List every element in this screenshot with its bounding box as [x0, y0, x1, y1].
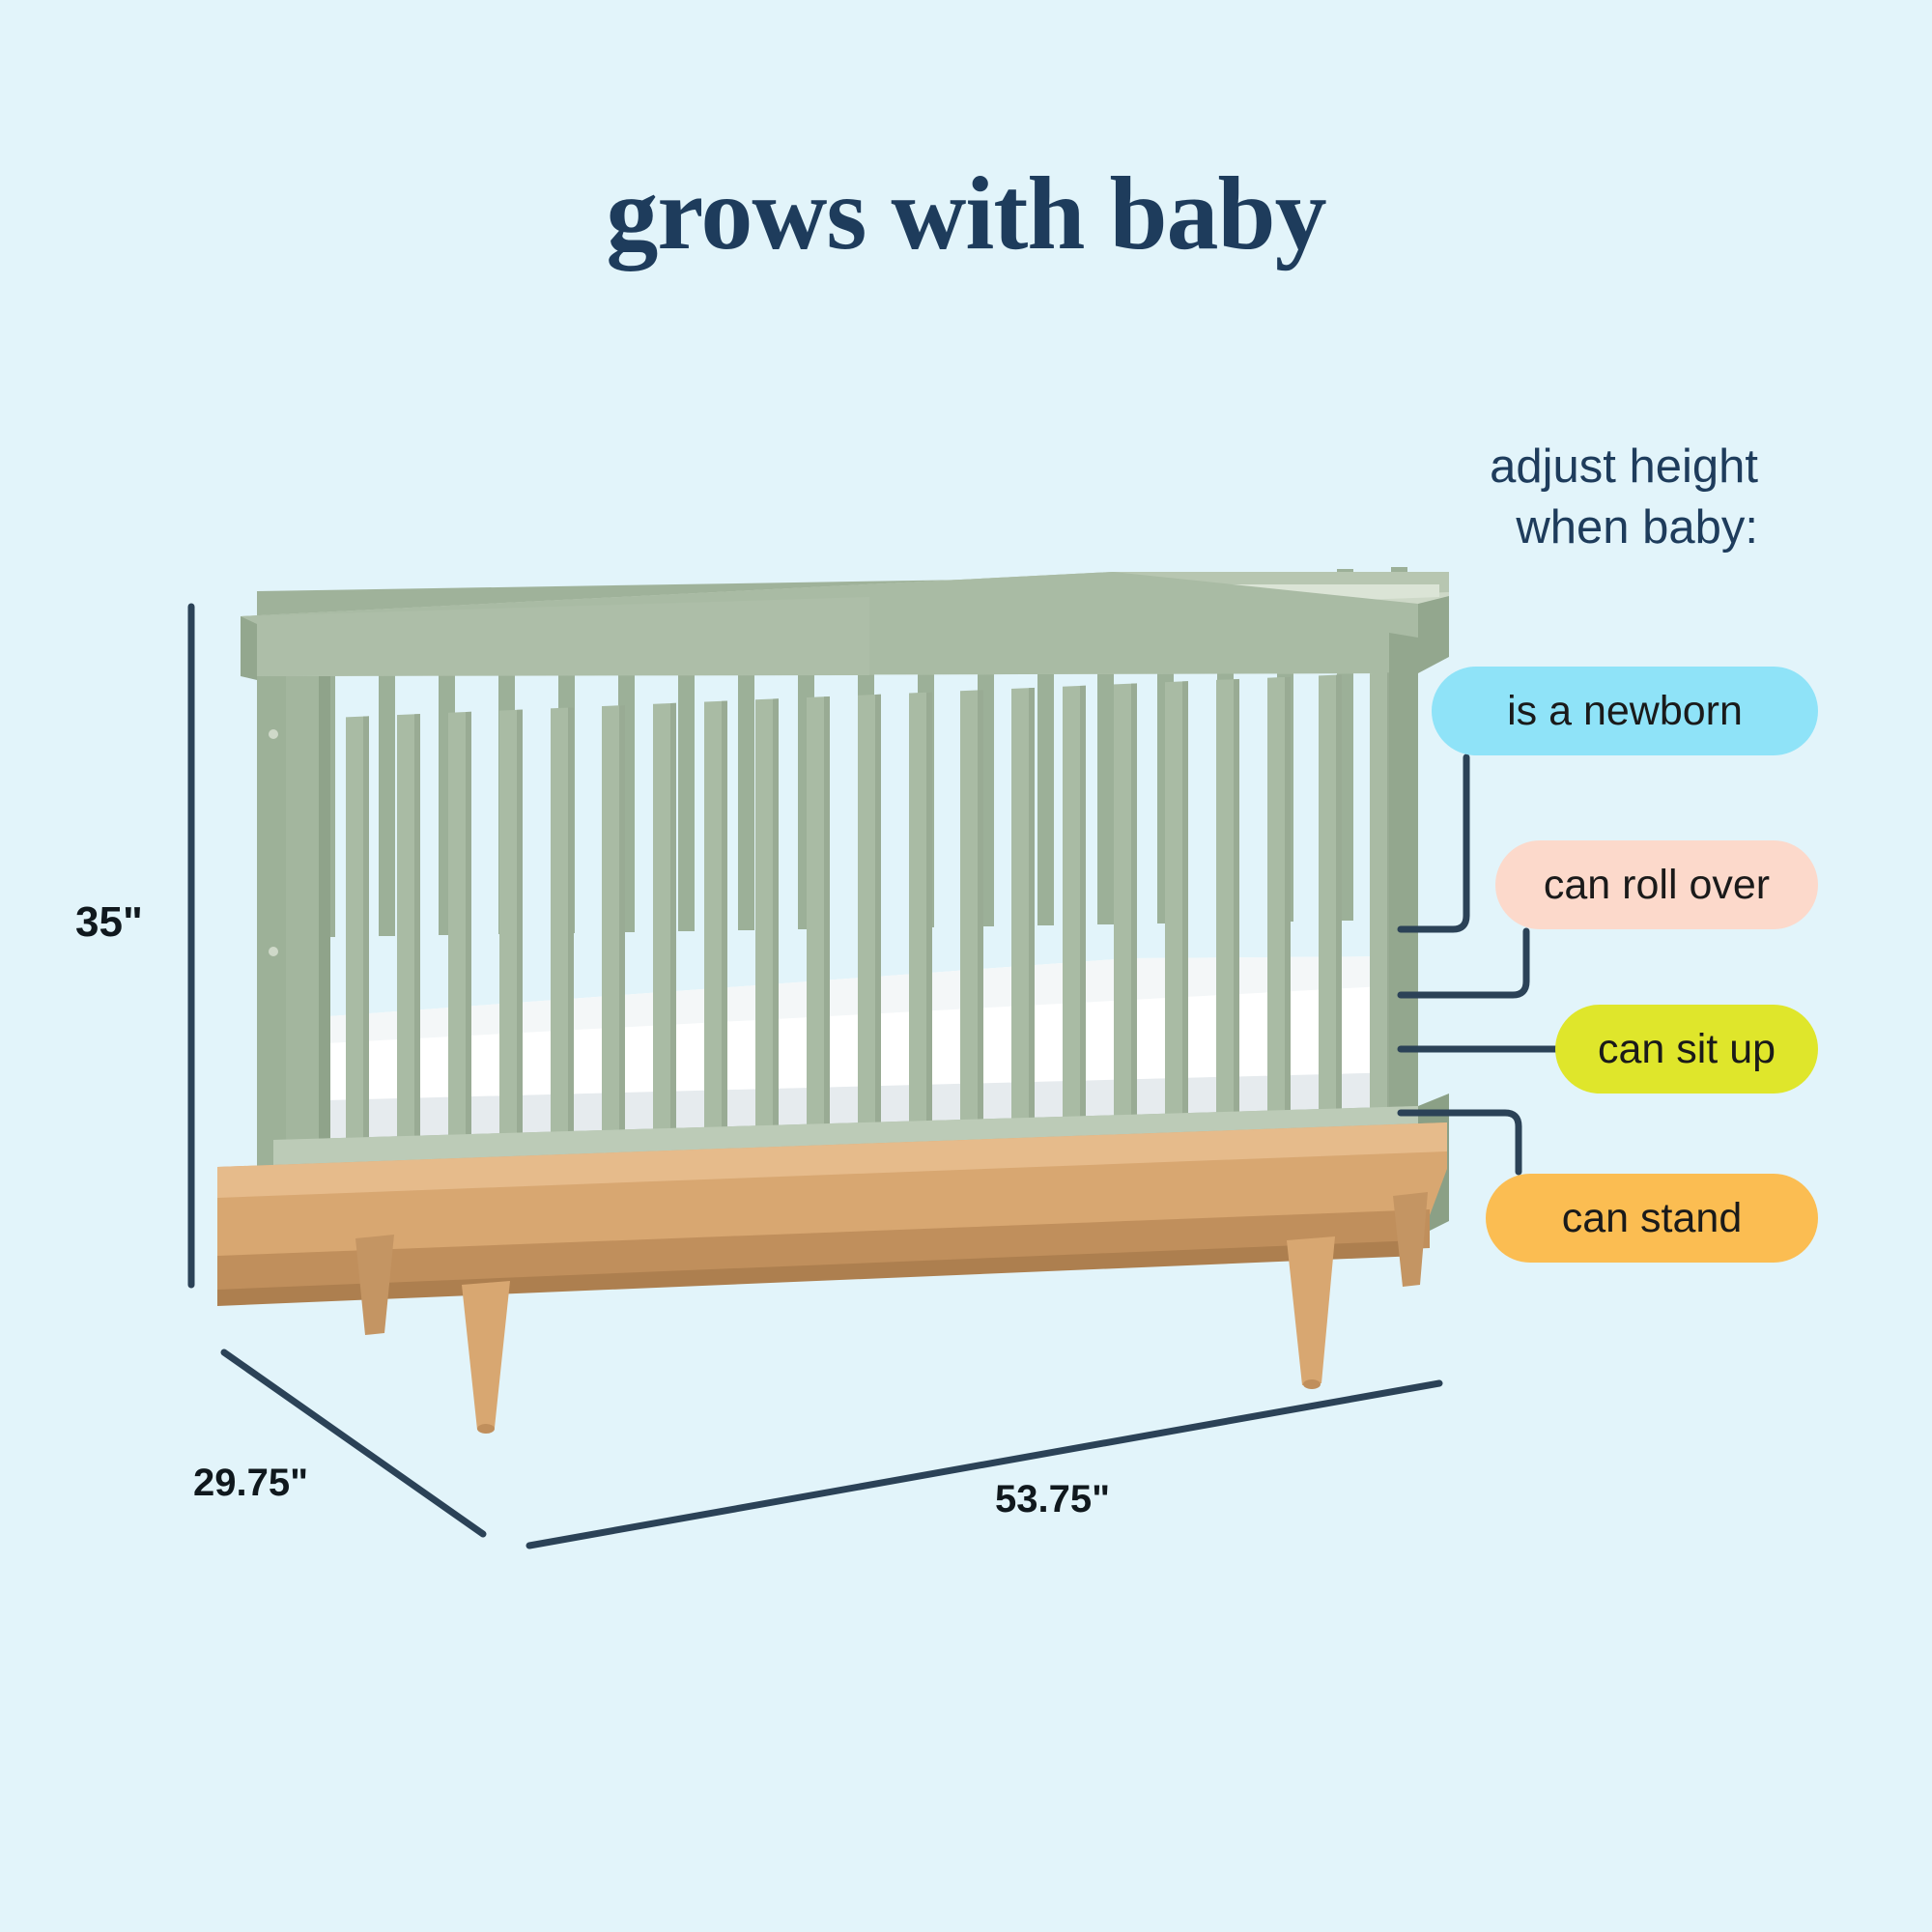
crib-front-left-post [286, 676, 330, 1203]
width-dimension-line [529, 1383, 1439, 1546]
dimension-depth-label: 29.75" [193, 1462, 308, 1505]
label-connectors [1401, 757, 1557, 1172]
depth-dimension-line [224, 1352, 483, 1534]
dimension-width-label: 53.75" [995, 1478, 1110, 1521]
label-pill-sit-up[interactable]: can sit up [1555, 1005, 1818, 1094]
label-pill-stand-text: can stand [1562, 1195, 1742, 1242]
label-pill-stand[interactable]: can stand [1486, 1174, 1818, 1263]
label-pill-sit-up-text: can sit up [1598, 1026, 1776, 1073]
label-pill-newborn[interactable]: is a newborn [1432, 667, 1818, 755]
crib-top-rail [241, 572, 1449, 680]
infographic-canvas: grows with baby adjust height when baby: [0, 0, 1932, 1932]
dimension-height-label: 35" [75, 898, 143, 947]
crib-right-corner-post [1389, 633, 1418, 1150]
label-pill-roll-over-text: can roll over [1544, 862, 1770, 909]
label-pill-roll-over[interactable]: can roll over [1495, 840, 1818, 929]
connector-rollover [1401, 931, 1526, 995]
label-pill-newborn-text: is a newborn [1507, 688, 1743, 735]
crib-illustration [0, 0, 1932, 1932]
